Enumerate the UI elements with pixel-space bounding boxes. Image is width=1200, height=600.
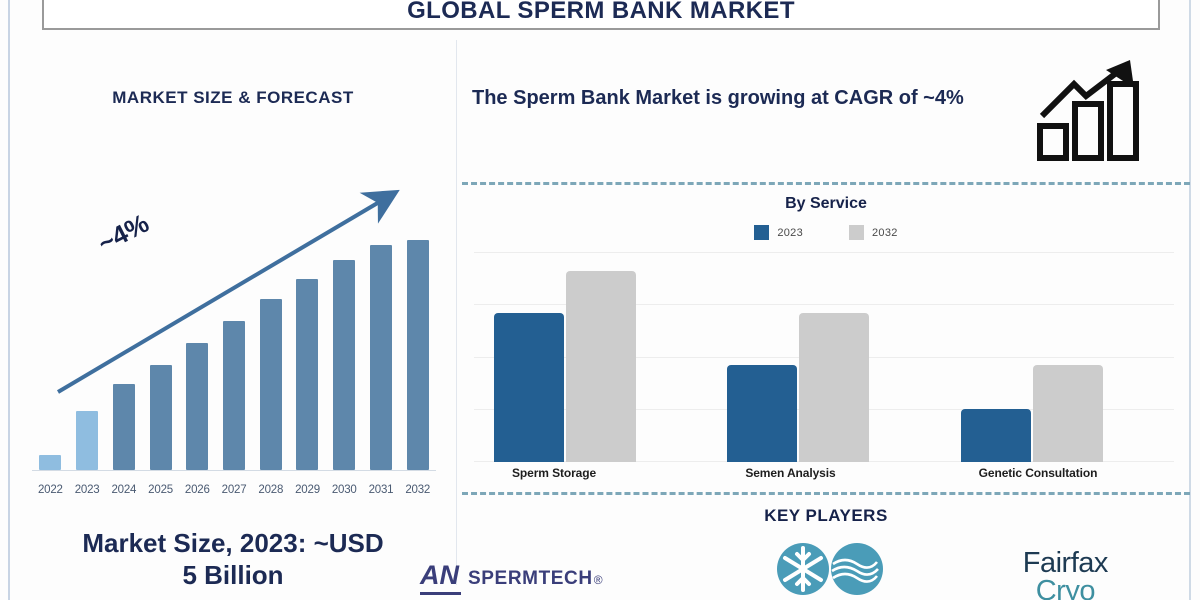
market-size-bar xyxy=(333,260,355,470)
year-label: 2022 xyxy=(32,484,69,496)
market-size-footer-line2: 5 Billion xyxy=(10,560,456,592)
market-size-section-title: MARKET SIZE & FORECAST xyxy=(10,88,456,108)
spermtech-logo: AN SPERMTECH ® nk & Research Institute xyxy=(420,560,690,600)
page-title: GLOBAL SPERM BANK MARKET xyxy=(407,0,795,28)
market-size-footer: Market Size, 2023: ~USD 5 Billion xyxy=(10,528,456,591)
service-bar xyxy=(799,313,869,462)
service-bar-group xyxy=(941,252,1174,462)
market-size-forecast-chart: ~4% 202220232024202520262027202820292030… xyxy=(26,168,440,508)
year-label: 2024 xyxy=(105,484,142,496)
reprotech-logo: REPROTECH xyxy=(731,542,931,600)
service-bar xyxy=(494,313,564,462)
key-players-row: AN SPERMTECH ® nk & Research Institute xyxy=(462,536,1190,600)
legend-label: 2023 xyxy=(777,227,803,239)
service-category-label: Sperm Storage xyxy=(474,466,707,480)
market-size-year-labels: 2022202320242025202620272028202920302031… xyxy=(32,484,436,496)
spermtech-name: SPERMTECH xyxy=(468,568,593,590)
bar-chart-growth-icon xyxy=(1034,58,1150,162)
key-player-spermtech[interactable]: AN SPERMTECH ® nk & Research Institute xyxy=(462,536,705,600)
year-label: 2032 xyxy=(399,484,436,496)
service-category-labels: Sperm StorageSemen AnalysisGenetic Consu… xyxy=(474,466,1174,480)
market-size-bar xyxy=(407,240,429,470)
fairfax-cryo-logo: Fairfax Cryo The Trusted C xyxy=(975,550,1155,600)
service-bar xyxy=(727,365,797,462)
key-players-title: KEY PLAYERS xyxy=(462,506,1190,526)
legend-swatch xyxy=(849,225,864,240)
key-player-fairfax[interactable]: Fairfax Cryo The Trusted C xyxy=(947,536,1190,600)
service-bar xyxy=(1033,365,1103,462)
market-size-panel: MARKET SIZE & FORECAST ~4% 2022202320242… xyxy=(10,40,456,600)
market-size-bar xyxy=(39,455,61,470)
market-size-bar xyxy=(186,343,208,470)
market-size-bar xyxy=(223,321,245,470)
fairfax-line1: Fairfax xyxy=(975,550,1155,578)
legend-item[interactable]: 2023 xyxy=(754,225,803,240)
year-label: 2031 xyxy=(363,484,400,496)
year-label: 2029 xyxy=(289,484,326,496)
cagr-statement: The Sperm Bank Market is growing at CAGR… xyxy=(472,84,1012,112)
registered-trademark-icon: ® xyxy=(594,573,603,587)
market-size-bar xyxy=(113,384,135,470)
service-bar-group xyxy=(474,252,707,462)
year-label: 2030 xyxy=(326,484,363,496)
legend-swatch xyxy=(754,225,769,240)
legend-item[interactable]: 2032 xyxy=(849,225,898,240)
legend-label: 2032 xyxy=(872,227,898,239)
market-size-bar xyxy=(260,299,282,470)
key-player-reprotech[interactable]: REPROTECH xyxy=(705,536,948,600)
fairfax-line2: Cryo xyxy=(975,578,1155,600)
market-size-footer-line1: Market Size, 2023: ~USD xyxy=(10,528,456,560)
year-label: 2025 xyxy=(142,484,179,496)
market-size-baseline xyxy=(32,470,436,471)
service-category-label: Semen Analysis xyxy=(707,466,940,480)
service-chart-title: By Service xyxy=(462,195,1190,213)
market-size-bar xyxy=(150,365,172,470)
service-chart-plot-area xyxy=(474,252,1174,462)
infographic-page: GLOBAL SPERM BANK MARKET MARKET SIZE & F… xyxy=(0,0,1200,600)
right-panel: The Sperm Bank Market is growing at CAGR… xyxy=(462,40,1190,600)
dashed-separator-top xyxy=(462,182,1190,185)
snowflake-wave-icon xyxy=(773,542,889,598)
service-category-label: Genetic Consultation xyxy=(941,466,1174,480)
service-chart-legend: 20232032 xyxy=(462,225,1190,240)
panel-divider xyxy=(456,40,457,585)
service-bar-groups xyxy=(474,252,1174,462)
header-box: GLOBAL SPERM BANK MARKET xyxy=(42,0,1160,30)
service-bar-group xyxy=(707,252,940,462)
market-size-bar xyxy=(76,411,98,470)
spermtech-name-prefix: AN xyxy=(420,560,461,595)
market-size-bar xyxy=(296,279,318,470)
service-bar xyxy=(961,409,1031,462)
year-label: 2028 xyxy=(252,484,289,496)
year-label: 2023 xyxy=(69,484,106,496)
year-label: 2027 xyxy=(216,484,253,496)
dashed-separator-bottom xyxy=(462,492,1190,495)
year-label: 2026 xyxy=(179,484,216,496)
market-size-bar xyxy=(370,245,392,470)
service-bar xyxy=(566,271,636,462)
